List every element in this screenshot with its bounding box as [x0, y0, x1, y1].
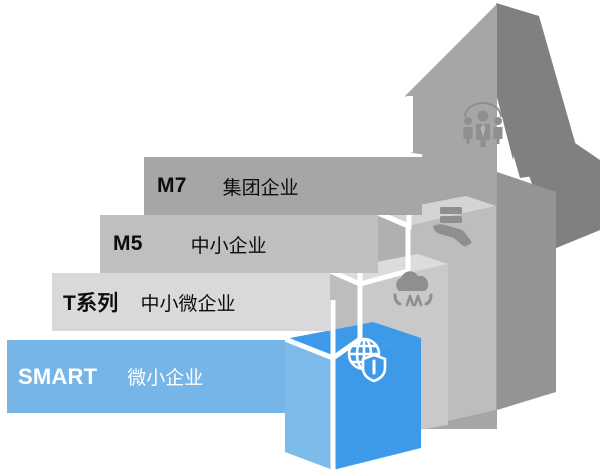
- person-right-head: [494, 117, 502, 125]
- tier-bar-m7[interactable]: M7 集团企业: [144, 157, 422, 215]
- card-middle: [440, 216, 462, 223]
- iso-block-smart-left: [285, 339, 333, 470]
- tier-description-m7: 集团企业: [223, 173, 299, 200]
- tier-code-smart: SMART: [18, 364, 97, 390]
- mask-m7: [409, 96, 413, 152]
- tier-bar-smart[interactable]: SMART 微小企业: [7, 340, 285, 413]
- tier-code-m5: M5: [113, 232, 143, 256]
- white-gap-masks: [409, 96, 413, 152]
- iso-block-m7-side: [497, 172, 556, 410]
- card-top: [440, 207, 462, 214]
- person-center-head: [478, 111, 489, 122]
- person-left-head: [464, 117, 472, 125]
- diagram-canvas: M7 集团企业 M5 中小企业 T系列 中小微企业 SMART 微小企业: [0, 0, 602, 476]
- tier-bar-t-series[interactable]: T系列 中小微企业: [52, 273, 330, 331]
- tier-description-smart: 微小企业: [127, 363, 203, 390]
- tier-code-t-series: T系列: [63, 287, 118, 317]
- tier-code-m7: M7: [157, 174, 187, 198]
- tier-description-m5: 中小企业: [191, 231, 267, 258]
- tier-description-t-series: 中小微企业: [140, 289, 235, 316]
- tier-bar-m5[interactable]: M5 中小企业: [100, 215, 378, 273]
